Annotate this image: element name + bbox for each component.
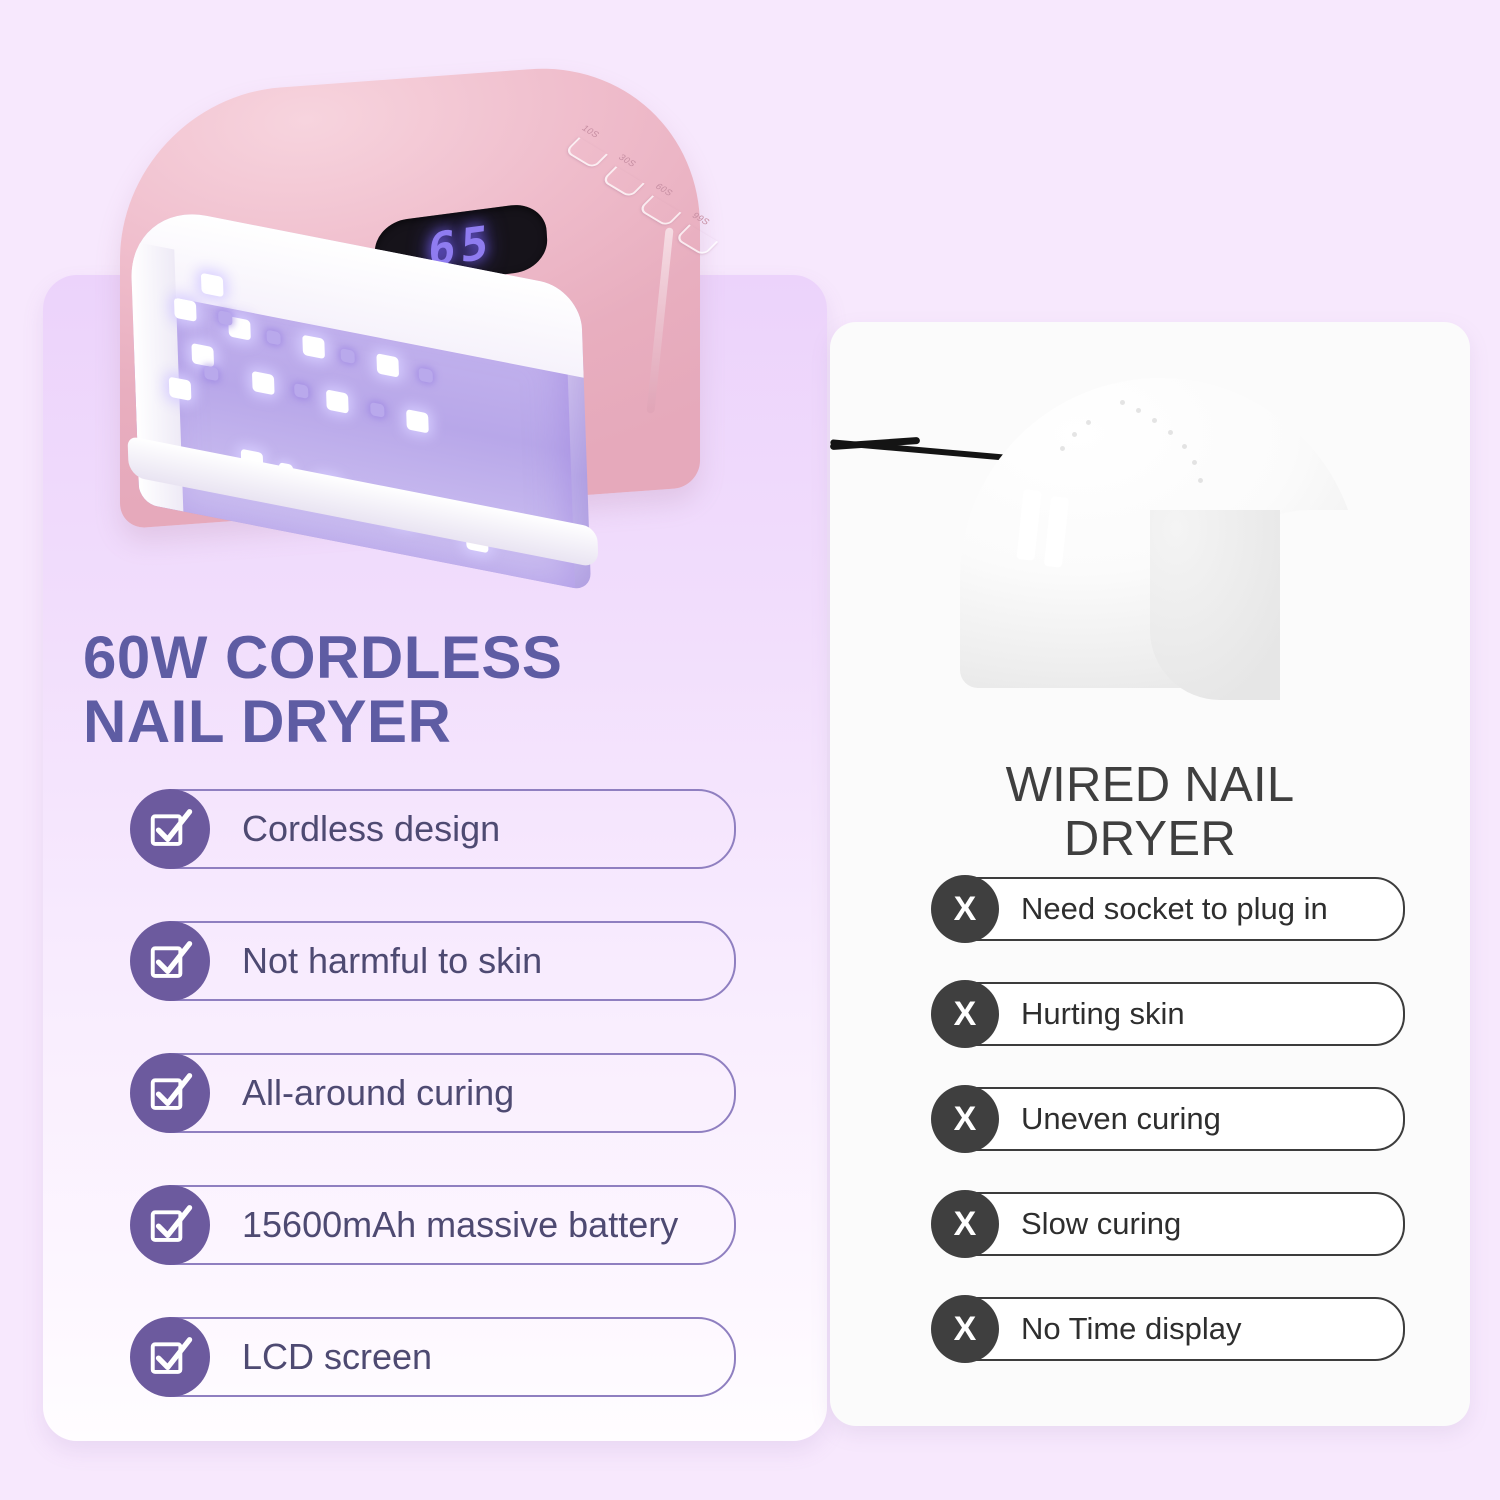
uv-led (376, 353, 399, 377)
feature-item: Not harmful to skin (136, 921, 736, 1001)
white-wired-nail-lamp-image (900, 360, 1460, 700)
drawback-item: X Hurting skin (935, 982, 1405, 1046)
timer-button-99s-label: 99S (690, 211, 712, 227)
vent-hole (1182, 444, 1187, 449)
vent-hole (1136, 408, 1141, 413)
feature-label: Not harmful to skin (242, 940, 542, 982)
vent-hole (1086, 420, 1091, 425)
feature-item: 15600mAh massive battery (136, 1185, 736, 1265)
pink-cordless-nail-lamp-image: 10S 30S 60S 99S 65 (120, 78, 700, 548)
uv-led (174, 298, 197, 322)
feature-label: 15600mAh massive battery (242, 1204, 678, 1246)
lamp-dome-arch (1150, 510, 1280, 700)
title-line-1: WIRED NAIL (1006, 758, 1295, 812)
feature-label: Cordless design (242, 808, 500, 850)
wired-drawback-list: X Need socket to plug in X Hurting skin … (935, 877, 1405, 1402)
feature-label: All-around curing (242, 1072, 514, 1114)
check-icon (130, 1053, 210, 1133)
vent-hole (1168, 430, 1173, 435)
timer-button-30s-label: 30S (617, 152, 639, 168)
drawback-label: No Time display (1021, 1311, 1242, 1347)
timer-button-60s (638, 195, 682, 227)
uv-led (169, 377, 192, 401)
feature-label: LCD screen (242, 1336, 432, 1378)
x-icon: X (931, 1190, 999, 1258)
uv-led (302, 335, 325, 359)
uv-led (326, 389, 349, 413)
check-icon (130, 921, 210, 1001)
drawback-label: Slow curing (1021, 1206, 1181, 1242)
vent-hole (1152, 418, 1157, 423)
timer-button-60s-label: 60S (653, 182, 675, 198)
vent-hole (1072, 432, 1077, 437)
x-icon: X (931, 980, 999, 1048)
title-line-2: NAIL DRYER (83, 688, 451, 755)
cordless-feature-list: Cordless design Not harmful to skin All-… (136, 789, 736, 1449)
timer-button-99s (675, 224, 719, 256)
page-title-wired: WIRED NAIL DRYER (860, 759, 1440, 867)
drawback-item: X Need socket to plug in (935, 877, 1405, 941)
check-icon (130, 1185, 210, 1265)
vent-hole (1120, 400, 1125, 405)
feature-item: LCD screen (136, 1317, 736, 1397)
check-icon (130, 1317, 210, 1397)
page-title-cordless: 60W CORDLESS NAIL DRYER (83, 626, 783, 753)
title-line-2: DRYER (1064, 812, 1236, 866)
title-line-1: 60W CORDLESS (83, 624, 562, 691)
drawback-item: X No Time display (935, 1297, 1405, 1361)
timer-button-30s (601, 166, 645, 198)
x-icon: X (931, 875, 999, 943)
infographic-canvas: 10S 30S 60S 99S 65 (0, 0, 1500, 1500)
feature-item: All-around curing (136, 1053, 736, 1133)
drawback-label: Need socket to plug in (1021, 891, 1328, 927)
check-icon (130, 789, 210, 869)
drawback-item: X Slow curing (935, 1192, 1405, 1256)
uv-led (191, 343, 214, 367)
drawback-label: Uneven curing (1021, 1101, 1221, 1137)
vent-hole (1192, 460, 1197, 465)
uv-led (406, 409, 429, 433)
uv-led (252, 371, 275, 395)
drawback-label: Hurting skin (1021, 996, 1185, 1032)
vent-hole (1198, 478, 1203, 483)
uv-led (201, 273, 224, 297)
drawback-item: X Uneven curing (935, 1087, 1405, 1151)
feature-item: Cordless design (136, 789, 736, 869)
vent-hole (1060, 446, 1065, 451)
x-icon: X (931, 1295, 999, 1363)
x-icon: X (931, 1085, 999, 1153)
